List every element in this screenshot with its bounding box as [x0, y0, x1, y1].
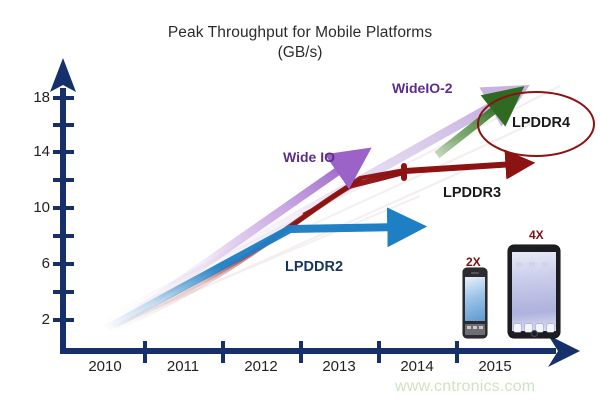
- tablet-home-button: [531, 330, 538, 337]
- series-label-lpddr3: LPDDR3: [443, 185, 501, 201]
- phone-multiplier-label: 2X: [466, 255, 481, 269]
- x-tick-label-2015: 2015: [465, 358, 525, 375]
- smartphone-icon: [463, 268, 487, 338]
- x-tick-label-2010: 2010: [75, 358, 135, 375]
- y-tick-label-18: 18: [16, 89, 50, 106]
- series-label-lpddr4: LPDDR4: [512, 115, 570, 131]
- x-tick-label-2011: 2011: [153, 358, 213, 375]
- phone-screen: [465, 277, 485, 321]
- x-tick-label-2012: 2012: [231, 358, 291, 375]
- x-tick-label-2013: 2013: [309, 358, 369, 375]
- site-watermark: www.cntronics.com: [395, 378, 535, 396]
- phone-keypad: [465, 324, 485, 335]
- y-tick-label-6: 6: [16, 255, 50, 272]
- plot-area: [0, 0, 600, 403]
- y-tick-label-10: 10: [16, 199, 50, 216]
- y-tick-label-14: 14: [16, 143, 50, 160]
- series-label-lpddr2: LPDDR2: [285, 259, 343, 275]
- series-label-wideio2: WideIO-2: [392, 80, 453, 96]
- phone-speaker: [471, 272, 479, 274]
- tablet-multiplier-label: 4X: [529, 228, 544, 242]
- tablet-screen: [512, 252, 556, 331]
- y-tick-label-2: 2: [16, 311, 50, 328]
- chart-canvas: Peak Throughput for Mobile Platforms (GB…: [0, 0, 600, 403]
- tablet-icon: [508, 245, 560, 338]
- x-tick-label-2014: 2014: [387, 358, 447, 375]
- series-label-wideio: Wide IO: [283, 149, 335, 165]
